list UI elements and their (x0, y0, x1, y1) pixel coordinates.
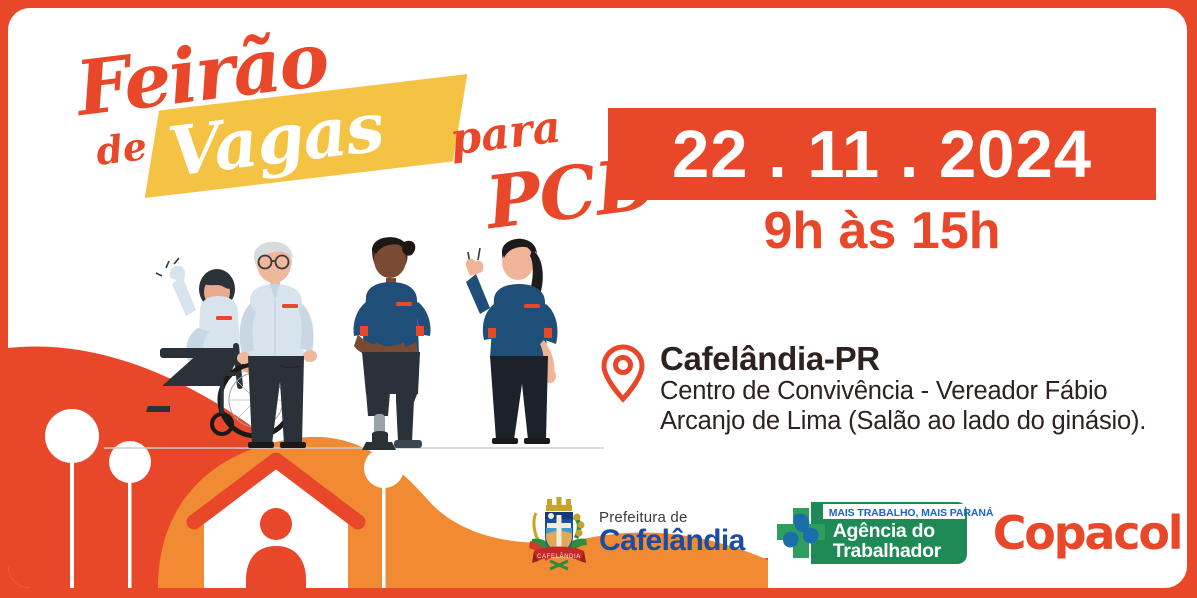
event-date: 22 . 11 . 2024 (672, 121, 1092, 188)
logo-copacol: Copacol (993, 510, 1182, 556)
event-details: 22 . 11 . 2024 9h às 15h (608, 108, 1178, 260)
prefeitura-wordmark: Prefeitura de Cafelândia (599, 510, 745, 556)
map-pin-icon (600, 343, 646, 403)
prefeitura-subtitle: Prefeitura de (599, 510, 745, 525)
tree-icon (364, 448, 404, 588)
title-lockup: Feirão de Vagas para PCD (68, 30, 598, 230)
house-with-person-icon (194, 460, 358, 588)
people-with-disabilities-illustration (104, 216, 604, 466)
location-text: Cafelândia-PR Centro de Convivência - Ve… (660, 341, 1187, 437)
cafelandia-coat-of-arms: CAFELÂNDIA (528, 495, 590, 571)
date-box: 22 . 11 . 2024 (608, 108, 1156, 200)
location-city: Cafelândia-PR (660, 342, 1187, 377)
svg-text:CAFELÂNDIA: CAFELÂNDIA (537, 553, 581, 560)
man-with-prosthetic-leg (354, 237, 431, 450)
logo-agencia-do-trabalhador: MAIS TRABALHO, MAIS PARANÁ Agência do Tr… (771, 502, 967, 564)
agencia-slogan: MAIS TRABALHO, MAIS PARANÁ (829, 507, 994, 519)
location-address: Centro de Convivência - Vereador Fábio A… (660, 377, 1187, 437)
event-hours: 9h às 15h (608, 202, 1156, 260)
logo-prefeitura-cafelandia: CAFELÂNDIA Prefeitura de Cafelândia (528, 495, 745, 571)
woman-peace-sign (466, 239, 558, 444)
title-de: de (93, 123, 149, 174)
sponsor-logos: CAFELÂNDIA Prefeitura de Cafelândia (528, 492, 1187, 574)
location-block: Cafelândia-PR Centro de Convivência - Ve… (600, 341, 1187, 437)
tree-icon (45, 409, 99, 588)
agencia-line2: Trabalhador (833, 540, 941, 563)
prefeitura-name: Cafelândia (599, 526, 745, 556)
promotional-banner: Feirão de Vagas para PCD (0, 0, 1197, 598)
banner-inner-panel: Feirão de Vagas para PCD (8, 8, 1187, 588)
